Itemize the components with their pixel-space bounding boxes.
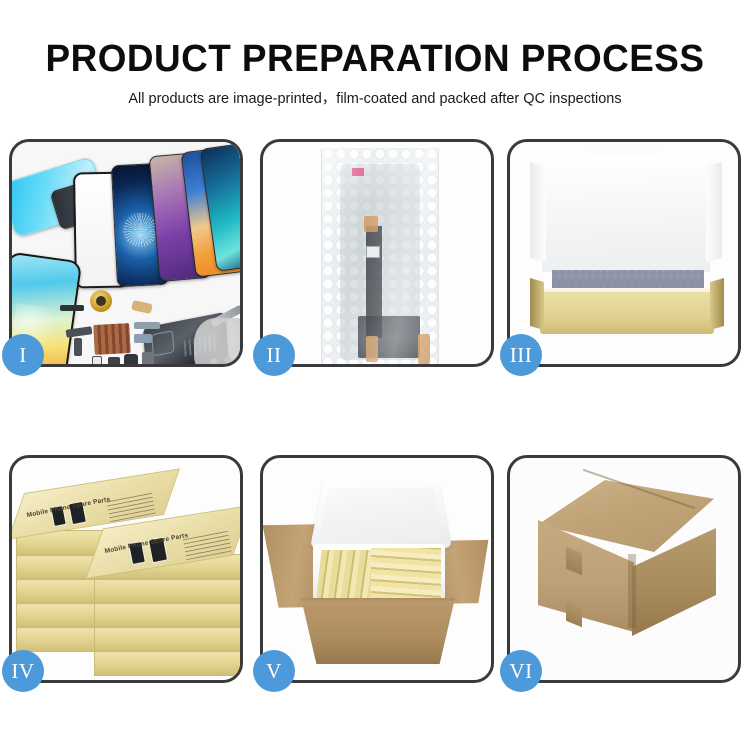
hand-blur	[194, 318, 240, 364]
gold-flex-part	[131, 300, 153, 314]
stack-slab-f4	[94, 626, 240, 652]
step-badge-6: VI	[500, 650, 542, 692]
step-4-image: Mobile Phone Spare Parts Mobile Phone Sp…	[12, 458, 240, 680]
box-white-lid	[542, 156, 710, 272]
step-5-image	[263, 458, 491, 680]
kraft-box-base	[540, 292, 714, 334]
step-badge-4: IV	[2, 650, 44, 692]
step-1-image	[12, 142, 240, 364]
box-stack: Mobile Phone Spare Parts Mobile Phone Sp…	[12, 480, 240, 678]
small-component-3	[124, 354, 138, 364]
step-badge-5: V	[253, 650, 295, 692]
tape-piece-3	[418, 334, 430, 364]
product-preparation-infographic: PRODUCT PREPARATION PROCESS All products…	[0, 0, 750, 750]
small-component-1	[92, 356, 102, 364]
speaker-coil-part	[90, 290, 112, 312]
step-panel-4: Mobile Phone Spare Parts Mobile Phone Sp…	[9, 455, 243, 683]
small-component-4	[142, 352, 154, 364]
step-panel-1	[9, 139, 243, 367]
page-title: PRODUCT PREPARATION PROCESS	[11, 38, 739, 81]
flex-cable-part-3	[134, 322, 160, 329]
step-3-image	[510, 142, 738, 364]
battery-connector-part	[60, 305, 84, 311]
carton-vertical-edge	[628, 554, 636, 628]
copper-mesh-part	[93, 323, 131, 355]
styrofoam-lid	[310, 483, 452, 548]
flex-cable-part-2	[74, 338, 82, 356]
styrofoam-carton-scene	[263, 458, 491, 680]
step-panel-3	[507, 139, 741, 367]
tape-piece-2	[366, 336, 378, 362]
tape-piece-1	[364, 216, 378, 232]
phones-and-parts-scene	[12, 142, 240, 364]
step-panel-2	[260, 139, 494, 367]
step-badge-2: II	[253, 334, 295, 376]
step-badge-3: III	[500, 334, 542, 376]
step-badge-1: I	[2, 334, 44, 376]
stack-slab-f3	[94, 602, 240, 628]
process-steps-grid: Mobile Phone Spare Parts Mobile Phone Sp…	[0, 139, 750, 687]
white-chip-component	[366, 246, 380, 258]
bubble-wrap-bag	[321, 148, 439, 364]
bubble-wrap-scene	[263, 142, 491, 364]
flex-cable-part-4	[134, 334, 152, 343]
step-2-image	[263, 142, 491, 364]
box-stack-scene: Mobile Phone Spare Parts Mobile Phone Sp…	[12, 458, 240, 680]
foam-box-scene	[510, 142, 738, 364]
step-6-image	[510, 458, 738, 680]
carton-body	[301, 598, 455, 664]
pink-qc-label	[352, 168, 364, 176]
sealed-carton-scene	[510, 458, 738, 680]
stack-slab-f2	[94, 578, 240, 604]
page-subtitle: All products are image-printed，film-coat…	[0, 87, 750, 108]
small-component-2	[108, 357, 120, 364]
step-panel-6	[507, 455, 741, 683]
packed-boxes-row-2	[371, 548, 441, 598]
step-panel-5	[260, 455, 494, 683]
stack-slab-f5	[94, 650, 240, 676]
